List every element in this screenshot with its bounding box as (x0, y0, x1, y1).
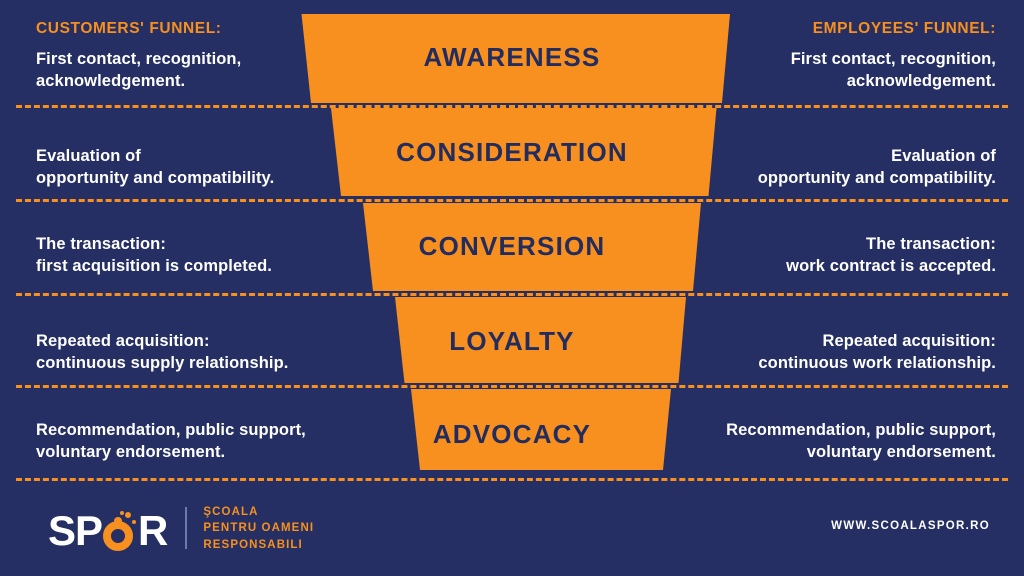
spor-ring-bubbles-logo (103, 511, 137, 551)
logo-divider (185, 507, 187, 549)
employees-funnel-heading: EMPLOYEES' FUNNEL: (676, 20, 996, 38)
website-url[interactable]: WWW.SCOALASPOR.RO (831, 520, 990, 532)
stage-label-awareness: AWARENESS (0, 42, 1024, 73)
separator-line-1 (16, 105, 1008, 108)
bubble-icon-2 (125, 512, 131, 518)
bubble-icon-3 (120, 511, 124, 515)
stage-label-consideration: CONSIDERATION (0, 137, 1024, 168)
separator-line-3 (16, 293, 1008, 296)
infographic-canvas: CUSTOMERS' FUNNEL: First contact, recogn… (0, 0, 1024, 576)
logo-tagline: ŞCOALA PENTRU OAMENI RESPONSABILI (203, 504, 314, 553)
separator-line-5 (16, 478, 1008, 481)
logo-text-sp: SP (48, 511, 102, 551)
bubble-icon-4 (132, 520, 136, 524)
stage-label-advocacy: ADVOCACY (0, 419, 1024, 450)
ring-icon (103, 521, 133, 551)
tagline-line-2: PENTRU OAMENI (203, 520, 314, 536)
stage-label-loyalty: LOYALTY (0, 326, 1024, 357)
logo-text-r: R (138, 511, 167, 551)
stage-label-conversion: CONVERSION (0, 231, 1024, 262)
footer: SP R ŞCOALA PENTRU OAMENI RESPONSABILI W… (0, 490, 1024, 576)
tagline-line-1: ŞCOALA (203, 504, 314, 520)
separator-line-4 (16, 385, 1008, 388)
spor-logo[interactable]: SP R ŞCOALA PENTRU OAMENI RESPONSABILI (48, 504, 314, 553)
customers-funnel-heading: CUSTOMERS' FUNNEL: (36, 20, 356, 38)
spor-wordmark: SP R (48, 505, 167, 551)
tagline-line-3: RESPONSABILI (203, 537, 314, 553)
separator-line-2 (16, 199, 1008, 202)
